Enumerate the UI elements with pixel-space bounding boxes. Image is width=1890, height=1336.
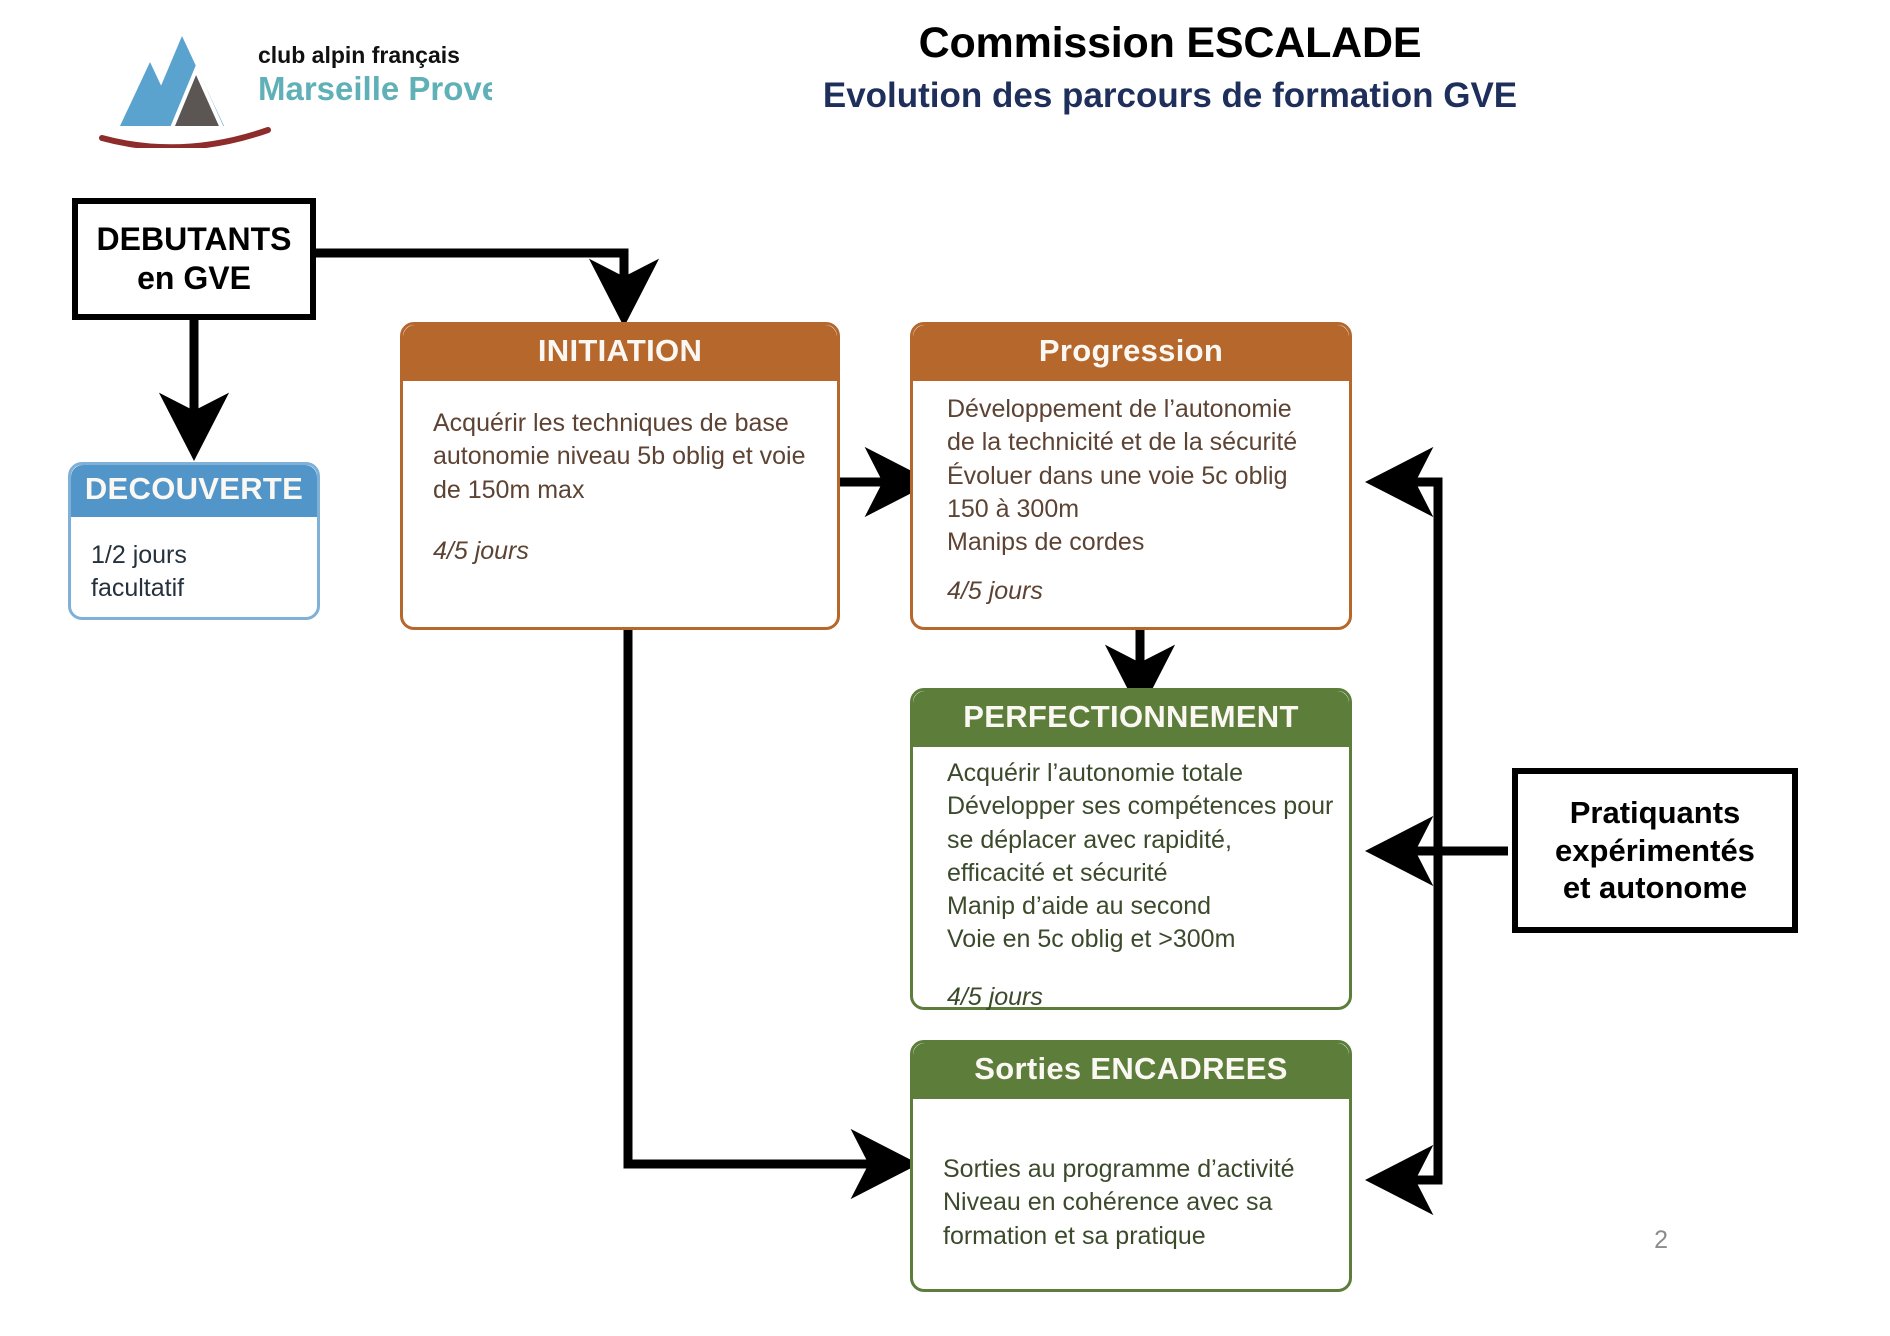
- club-alpin-logo: club alpin français Marseille Provence: [72, 18, 492, 148]
- progression-line3: Évoluer dans une voie 5c oblig: [947, 460, 1349, 493]
- initiation-line1: Acquérir les techniques de base: [433, 407, 837, 440]
- pratiquants-line2: expérimentés: [1555, 832, 1755, 870]
- progression-days: 4/5 jours: [947, 575, 1349, 608]
- box-pratiquants-experimentes[interactable]: Pratiquants expérimentés et autonome: [1512, 768, 1798, 933]
- initiation-header: INITIATION: [403, 325, 837, 381]
- arrow-debutants-to-initiation: [316, 253, 624, 300]
- title-block: Commission ESCALADE Evolution des parcou…: [470, 18, 1870, 117]
- initiation-days: 4/5 jours: [433, 535, 837, 568]
- perfectionnement-body: Acquérir l’autonomie totale Développer s…: [913, 747, 1349, 1014]
- pratiquants-line3: et autonome: [1563, 869, 1747, 907]
- decouverte-body: 1/2 jours facultatif: [71, 517, 317, 606]
- initiation-body: Acquérir les techniques de base autonomi…: [403, 381, 837, 568]
- initiation-line2: autonomie niveau 5b oblig et voie: [433, 440, 837, 473]
- progression-header: Progression: [913, 325, 1349, 381]
- perfectionnement-line5: Manip d’aide au second: [947, 890, 1349, 923]
- page-title: Commission ESCALADE: [470, 18, 1870, 69]
- decouverte-line2: facultatif: [91, 572, 317, 605]
- sorties-body: Sorties au programme d’activité Niveau e…: [913, 1099, 1349, 1253]
- perfectionnement-line4: efficacité et sécurité: [947, 857, 1349, 890]
- slide-canvas: club alpin français Marseille Provence C…: [0, 0, 1890, 1336]
- logo-brand-line2: Marseille Provence: [258, 70, 492, 107]
- progression-line5: Manips de cordes: [947, 526, 1349, 559]
- progression-line2: de la technicité et de la sécurité: [947, 426, 1349, 459]
- arrow-pratiquants-to-progression: [1392, 482, 1438, 851]
- debutants-line1: DEBUTANTS: [97, 220, 292, 259]
- logo-brand-line1: club alpin français: [258, 42, 460, 68]
- progression-body: Développement de l’autonomie de la techn…: [913, 381, 1349, 609]
- debutants-line2: en GVE: [137, 259, 251, 298]
- sorties-line1: Sorties au programme d’activité: [943, 1153, 1349, 1186]
- sorties-header: Sorties ENCADREES: [913, 1043, 1349, 1099]
- box-debutants[interactable]: DEBUTANTS en GVE: [72, 198, 316, 320]
- box-progression[interactable]: Progression Développement de l’autonomie…: [910, 322, 1352, 630]
- initiation-line3: de 150m max: [433, 474, 837, 507]
- decouverte-line1: 1/2 jours: [91, 539, 317, 572]
- perfectionnement-days: 4/5 jours: [947, 981, 1349, 1014]
- box-decouverte[interactable]: DECOUVERTE 1/2 jours facultatif: [68, 462, 320, 620]
- perfectionnement-line2: Développer ses compétences pour: [947, 790, 1349, 823]
- arrow-initiation-to-sorties: [628, 628, 892, 1164]
- decouverte-header: DECOUVERTE: [71, 465, 317, 517]
- box-initiation[interactable]: INITIATION Acquérir les techniques de ba…: [400, 322, 840, 630]
- progression-line4: 150 à 300m: [947, 493, 1349, 526]
- perfectionnement-line3: se déplacer avec rapidité,: [947, 824, 1349, 857]
- pratiquants-line1: Pratiquants: [1570, 794, 1741, 832]
- page-subtitle: Evolution des parcours de formation GVE: [470, 75, 1870, 117]
- perfectionnement-header: PERFECTIONNEMENT: [913, 691, 1349, 747]
- perfectionnement-line1: Acquérir l’autonomie totale: [947, 757, 1349, 790]
- logo-swoosh: [102, 130, 268, 147]
- page-number: 2: [1654, 1226, 1668, 1255]
- progression-line1: Développement de l’autonomie: [947, 393, 1349, 426]
- sorties-line2: Niveau en cohérence avec sa: [943, 1186, 1349, 1219]
- perfectionnement-line6: Voie en 5c oblig et >300m: [947, 923, 1349, 956]
- box-sorties-encadrees[interactable]: Sorties ENCADREES Sorties au programme d…: [910, 1040, 1352, 1292]
- sorties-line3: formation et sa pratique: [943, 1220, 1349, 1253]
- arrow-pratiquants-to-sorties: [1392, 851, 1438, 1180]
- box-perfectionnement[interactable]: PERFECTIONNEMENT Acquérir l’autonomie to…: [910, 688, 1352, 1010]
